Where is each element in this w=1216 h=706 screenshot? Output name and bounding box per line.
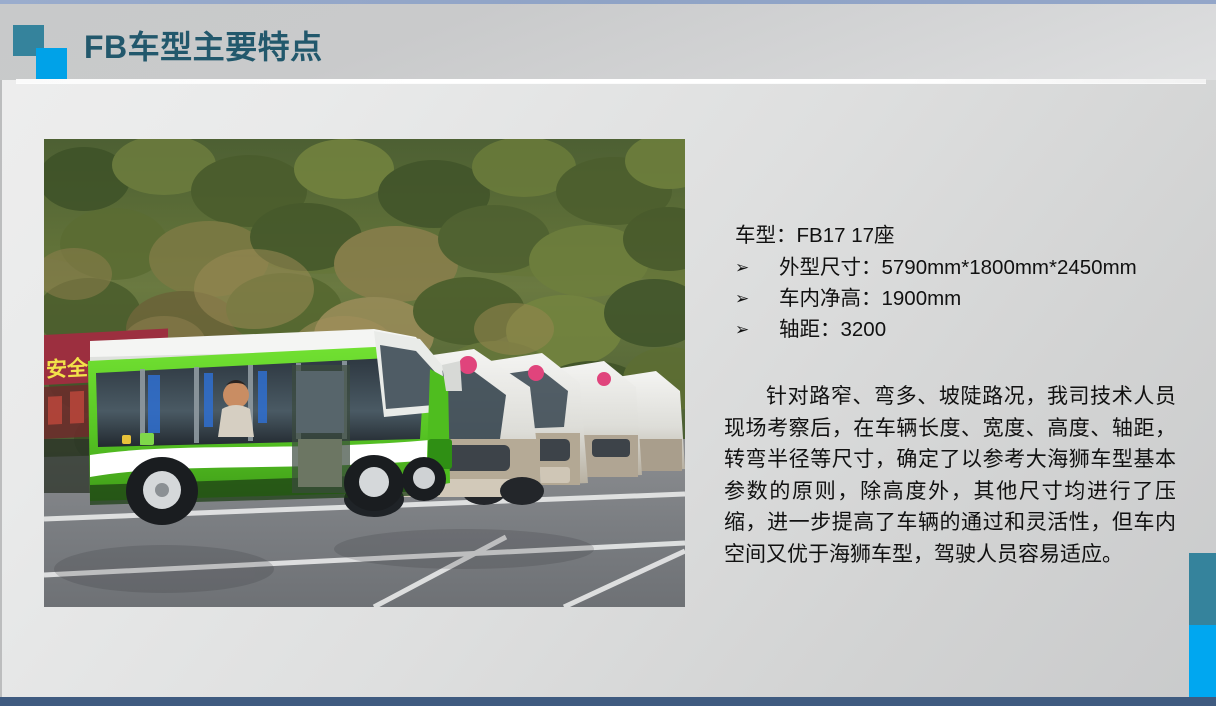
arrow-bullet-icon: ➢	[735, 285, 779, 312]
header-separator	[16, 79, 1206, 83]
header-square-bright-icon	[36, 48, 67, 79]
spec-item-wheelbase: ➢ 轴距：3200	[735, 316, 1195, 343]
bottom-border-rule	[0, 697, 1216, 706]
edge-decoration-bar	[1189, 553, 1216, 698]
arrow-bullet-icon: ➢	[735, 254, 779, 281]
green-bus	[88, 329, 462, 525]
spec-item-dimensions: ➢ 外型尺寸：5790mm*1800mm*2450mm	[735, 254, 1195, 281]
page-title: FB车型主要特点	[84, 27, 323, 67]
description-paragraph: 针对路窄、弯多、坡陡路况，我司技术人员现场考察后，在车辆长度、宽度、高度、轴距，…	[724, 381, 1176, 570]
spec-item-label: 车内净高：1900mm	[779, 285, 961, 312]
spec-model-line: 车型：FB17 17座	[735, 222, 1195, 249]
left-border-edge	[0, 4, 2, 697]
spec-list: 车型：FB17 17座 ➢ 外型尺寸：5790mm*1800mm*2450mm …	[735, 222, 1195, 347]
spec-item-interior-height: ➢ 车内净高：1900mm	[735, 285, 1195, 312]
edge-bar-teal-block	[1189, 553, 1216, 625]
slide-canvas: FB车型主要特点	[0, 0, 1216, 706]
edge-bar-blue-block	[1189, 625, 1216, 698]
spec-item-label: 外型尺寸：5790mm*1800mm*2450mm	[779, 254, 1137, 281]
bus-photo-illustration: 安全第一	[44, 139, 685, 607]
slide-header: FB车型主要特点	[0, 4, 1216, 80]
bus-photo: 安全第一	[44, 139, 685, 607]
arrow-bullet-icon: ➢	[735, 316, 779, 343]
spec-item-label: 轴距：3200	[779, 316, 886, 343]
